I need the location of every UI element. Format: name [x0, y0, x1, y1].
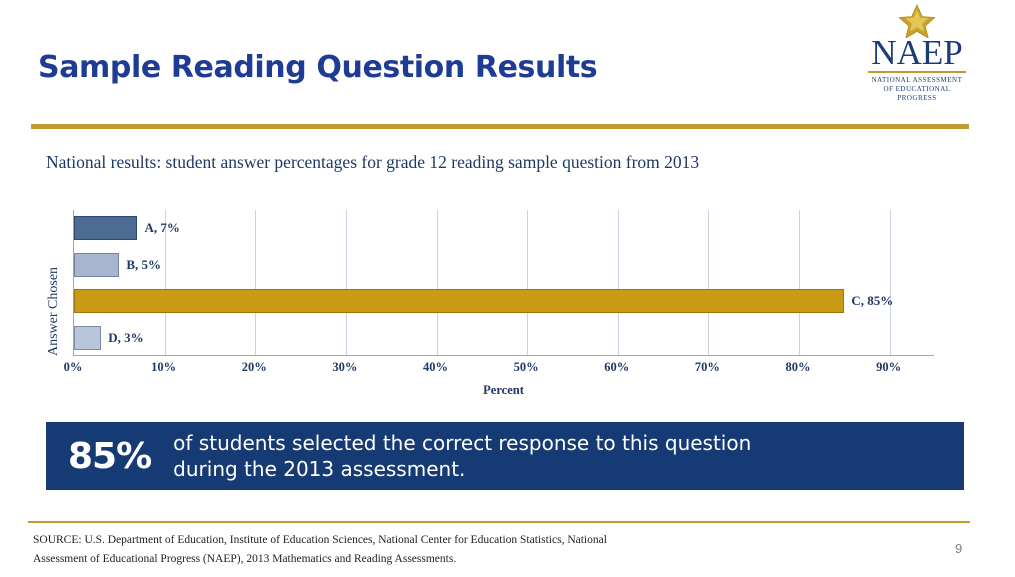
gridline	[618, 210, 619, 355]
x-axis-tick: 80%	[786, 360, 811, 375]
bar-b	[74, 253, 119, 277]
x-axis-tick: 40%	[423, 360, 448, 375]
gridline	[437, 210, 438, 355]
naep-wordmark: NAEP	[864, 36, 970, 70]
x-axis-tick: 30%	[332, 360, 357, 375]
bar-a	[74, 216, 137, 240]
chart-description: National results: student answer percent…	[46, 150, 786, 174]
bar-label-b: B, 5%	[126, 253, 161, 277]
bar-label-c: C, 85%	[851, 289, 893, 313]
slide-canvas: Sample Reading Question Results NAEP NAT…	[0, 0, 1015, 577]
logo-tagline-line3: PROGRESS	[864, 94, 970, 103]
bar-label-a: A, 7%	[144, 216, 179, 240]
y-axis-title: Answer Chosen	[46, 256, 64, 366]
highlight-stat: 85%	[68, 436, 151, 477]
x-axis-tick: 60%	[604, 360, 629, 375]
gridline	[255, 210, 256, 355]
page-number: 9	[955, 541, 962, 556]
x-axis-tick: 70%	[695, 360, 720, 375]
page-title: Sample Reading Question Results	[38, 50, 597, 85]
gridline	[799, 210, 800, 355]
highlight-banner: 85% of students selected the correct res…	[46, 422, 964, 490]
gridline	[890, 210, 891, 355]
gridline	[527, 210, 528, 355]
highlight-text-line2: during the 2013 assessment.	[173, 456, 751, 482]
x-axis-tick: 20%	[242, 360, 267, 375]
logo-tagline-line1: NATIONAL ASSESSMENT	[864, 76, 970, 85]
source-line-1: SOURCE: U.S. Department of Education, In…	[33, 531, 683, 550]
bar-d	[74, 326, 101, 350]
star-icon	[864, 4, 970, 38]
x-axis-tick: 10%	[151, 360, 176, 375]
source-note: SOURCE: U.S. Department of Education, In…	[33, 531, 683, 569]
highlight-text: of students selected the correct respons…	[173, 430, 751, 482]
x-axis-tick: 0%	[64, 360, 83, 375]
x-axis-title: Percent	[73, 383, 934, 398]
logo-tagline-line2: OF EDUCATIONAL	[864, 85, 970, 94]
gridline	[708, 210, 709, 355]
source-line-2: Assessment of Educational Progress (NAEP…	[33, 550, 683, 569]
header-divider	[31, 124, 969, 129]
bar-c	[74, 289, 844, 313]
naep-logo: NAEP NATIONAL ASSESSMENT OF EDUCATIONAL …	[864, 4, 970, 112]
highlight-text-line1: of students selected the correct respons…	[173, 430, 751, 456]
footer-divider	[28, 521, 970, 523]
bar-chart: Answer Chosen A, 7%B, 5%C, 85%D, 3% Perc…	[46, 208, 946, 398]
gridline	[346, 210, 347, 355]
x-axis-tick: 90%	[876, 360, 901, 375]
x-axis-tick: 50%	[514, 360, 539, 375]
bar-label-d: D, 3%	[108, 326, 143, 350]
plot-area: A, 7%B, 5%C, 85%D, 3%	[73, 210, 934, 356]
